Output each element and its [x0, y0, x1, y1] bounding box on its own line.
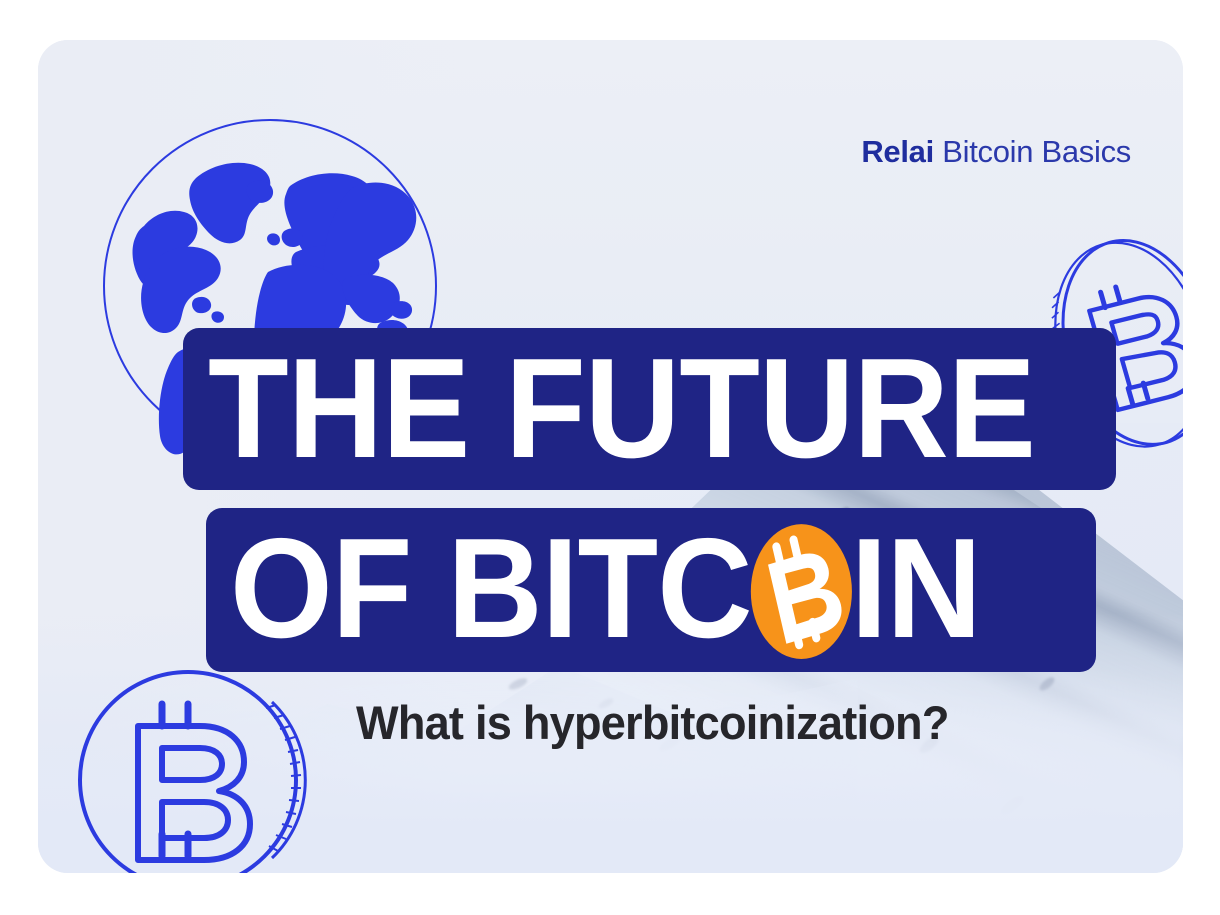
slide-card: Relai Bitcoin Basics THE FUTURE OF BITCI…: [38, 40, 1183, 873]
headline-line-2-after: IN: [851, 509, 981, 668]
headline-block-line-1: THE FUTURE: [183, 328, 1116, 490]
headline-line-2-before: OF BITC: [230, 509, 752, 668]
brand-eyebrow: Relai Bitcoin Basics: [861, 135, 1131, 169]
headline-line-1-text: THE FUTURE: [208, 339, 1035, 478]
bitcoin-logo-icon: [750, 522, 853, 661]
headline-block-line-2: OF BITCIN: [206, 508, 1096, 672]
brand-name: Relai: [861, 134, 934, 169]
subtitle: What is hyperbitcoinization?: [356, 695, 949, 750]
headline-line-2-text: OF BITCIN: [230, 519, 981, 662]
series-name: Bitcoin Basics: [934, 134, 1131, 169]
bitcoin-coin-outline-icon-2: [76, 660, 316, 873]
slide-stage: Relai Bitcoin Basics THE FUTURE OF BITCI…: [0, 0, 1220, 915]
